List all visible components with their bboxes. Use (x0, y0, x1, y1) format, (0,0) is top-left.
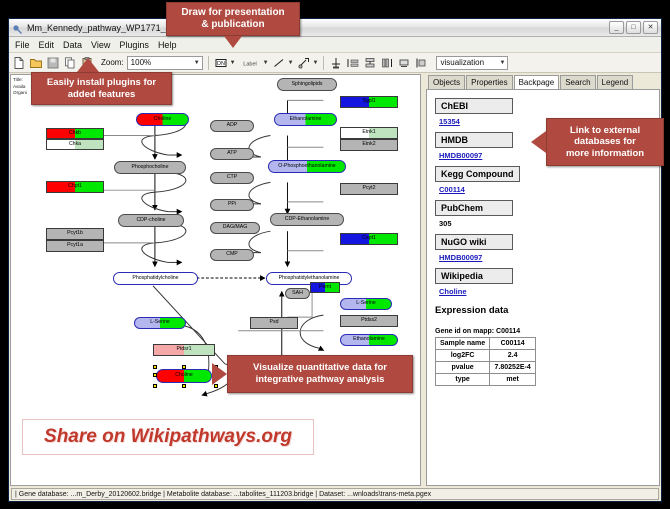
resize-handle[interactable] (182, 384, 186, 388)
expression-key: Sample name (436, 338, 490, 350)
pathway-node-cdp-ethanolamine[interactable]: CDP-Ethanolamine (270, 213, 344, 226)
callout-visualize-arrow-icon (212, 363, 227, 385)
backpage-link-kegg-compound[interactable]: C00114 (439, 185, 651, 194)
resize-handle[interactable] (153, 365, 157, 369)
pathway-node-l-serine-r[interactable]: L-Serine (340, 298, 392, 310)
expression-key: type (436, 374, 490, 386)
size-icon[interactable] (380, 56, 394, 70)
pathway-node-label: Phosphatidylcholine (132, 276, 178, 281)
expression-value: met (490, 374, 536, 386)
expression-table: Sample nameC00114log2FC2.4pvalue7.80252E… (435, 337, 536, 386)
expression-row: pvalue7.80252E-4 (436, 362, 536, 374)
svg-text:DN: DN (217, 61, 225, 67)
pathway-node-cept1[interactable]: Cept1 (340, 233, 398, 245)
backpage-heading-hmdb: HMDB (435, 132, 513, 148)
toolbar-separator (208, 56, 209, 70)
pathway-node-adp[interactable]: ADP (210, 120, 254, 132)
pathway-node-label: Etnk1 (362, 130, 375, 135)
callout-plugins-line1: Easily install plugins for (47, 77, 156, 88)
map-info: Title: Availa Organi (13, 77, 27, 97)
expression-value: 7.80252E-4 (490, 362, 536, 374)
expression-key: log2FC (436, 350, 490, 362)
callout-draw-line1: Draw for presentation (181, 7, 284, 18)
callout-links-line3: more information (566, 148, 644, 159)
menu-item-data[interactable]: Data (63, 40, 82, 50)
pathway-node-label: ATP (227, 151, 237, 156)
expression-value: C00114 (490, 338, 536, 350)
map-info-title: Title: (13, 77, 27, 84)
pathway-node-label: SAH (292, 291, 303, 296)
receptor-dropdown-icon[interactable]: ▼ (313, 60, 319, 66)
pathway-node-label: CDP-choline (136, 218, 165, 223)
toolbar-separator-2 (323, 56, 324, 70)
pathway-node-label: Choline (154, 117, 172, 122)
copy-icon[interactable] (63, 56, 77, 70)
pathway-node-ctp[interactable]: CTP (210, 172, 254, 184)
pathway-node-sgpl1[interactable]: Sgpl1 (340, 96, 398, 108)
label-dropdown-icon[interactable]: ▼ (263, 60, 269, 66)
pathway-node-label: Ethanolamine (290, 117, 322, 122)
visualization-value: visualization (440, 58, 484, 67)
callout-visualize-line2: integrative pathway analysis (256, 374, 385, 385)
pathway-node-ophosphoethanolamine[interactable]: O-Phosphoethanolamine (268, 160, 346, 173)
tab-backpage[interactable]: Backpage (514, 75, 560, 90)
pathway-node-label: Phosphocholine (132, 165, 169, 170)
close-button[interactable]: ✕ (643, 21, 658, 34)
tab-legend[interactable]: Legend (597, 75, 634, 89)
receptor-icon[interactable] (297, 56, 311, 70)
label-icon[interactable]: Label (239, 56, 261, 70)
pathway-node-choline-top[interactable]: Choline (136, 113, 189, 126)
zoom-combobox[interactable]: 100% ▼ (127, 56, 203, 70)
pathway-node-label: CDP-Ethanolamine (285, 217, 329, 222)
gene-id-label: Gene id on mapp: C00114 (435, 328, 651, 335)
tab-objects[interactable]: Objects (428, 75, 465, 89)
callout-plugins-line2: added features (68, 89, 136, 100)
menu-item-plugins[interactable]: Plugins (119, 40, 149, 50)
selection-handles[interactable] (153, 365, 217, 387)
pathway-node-ptdss2[interactable]: Ptdss2 (340, 315, 398, 327)
align-icon[interactable] (329, 56, 343, 70)
pathway-node-label: CTP (227, 175, 237, 180)
zoom-label: Zoom: (101, 58, 124, 67)
backpage-heading-pubchem: PubChem (435, 200, 513, 216)
pathway-node-l-serine-l[interactable]: L-Serine (134, 317, 186, 329)
pathway-node-label: Sgpl1 (362, 99, 375, 104)
line-icon[interactable] (272, 56, 286, 70)
pathway-node-label: Pemt (319, 285, 331, 290)
menu-bar: File Edit Data View Plugins Help (9, 37, 661, 53)
pathway-node-label: PPi (228, 202, 236, 207)
pathway-node-phosphatidylcholine[interactable]: Phosphatidylcholine (113, 272, 198, 285)
map-info-organism: Organi (13, 90, 27, 97)
pathway-node-label: Ethanolamine (353, 337, 385, 342)
pathway-node-pcyt2[interactable]: Pcyt2 (340, 183, 398, 195)
pathway-node-label: DAG/MAG (223, 225, 248, 230)
pathway-node-dagmag[interactable]: DAG/MAG (210, 222, 260, 234)
backpage-heading-kegg-compound: Kegg Compound (435, 166, 520, 182)
pathway-node-sah[interactable]: SAH (285, 288, 310, 299)
pathway-node-label: O-Phosphoethanolamine (278, 164, 335, 169)
share-banner: Share on Wikipathways.org (22, 419, 314, 455)
pathway-node-pcyt1b[interactable]: Pcyt1b (46, 228, 104, 240)
expression-data-title: Expression data (435, 305, 651, 316)
title-bar: Mm_Kennedy_pathway_WP1771_45176.gpml _ □… (9, 19, 661, 37)
distribute-icon[interactable] (346, 56, 360, 70)
pathway-node-sphingolipids[interactable]: Sphingolipids (277, 78, 337, 91)
callout-links: Link to external databases for more info… (546, 118, 664, 166)
backpage-link-nugo-wiki[interactable]: HMDB00097 (439, 253, 651, 262)
pathway-node-ethanolamine-top[interactable]: Ethanolamine (274, 113, 337, 126)
status-bar: | Gene database: ...m_Derby_20120602.bri… (9, 487, 661, 501)
status-text: | Gene database: ...m_Derby_20120602.bri… (11, 488, 659, 500)
chevron-down-icon: ▼ (190, 60, 200, 66)
pathway-node-psd[interactable]: Psd (250, 317, 298, 329)
backpage-heading-nugo-wiki: NuGO wiki (435, 234, 513, 250)
expression-row: Sample nameC00114 (436, 338, 536, 350)
visualization-combobox[interactable]: visualization ▼ (436, 56, 508, 70)
callout-draw-line2: & publication (201, 19, 264, 30)
pathway-node-ethanolamine-bottom[interactable]: Ethanolamine (340, 334, 398, 346)
pathway-node-ppi[interactable]: PPi (210, 199, 254, 211)
line-dropdown-icon[interactable]: ▼ (288, 60, 294, 66)
pathway-node-pemt[interactable]: Pemt (310, 282, 340, 293)
resize-handle[interactable] (153, 373, 157, 377)
callout-links-arrow-icon (531, 131, 546, 153)
pathway-node-pcyt1a[interactable]: Pcyt1a (46, 240, 104, 252)
callout-plugins: Easily install plugins for added feature… (31, 72, 172, 105)
order-icon[interactable] (414, 56, 428, 70)
pathway-node-chpt1[interactable]: Chpt1 (46, 181, 104, 193)
resize-handle[interactable] (182, 365, 186, 369)
pathway-node-label: L-Serine (150, 320, 170, 325)
callout-links-line2: databases for (574, 136, 636, 147)
pathway-node-label: CMP (226, 252, 238, 257)
pathway-node-label: Chkb (69, 131, 81, 136)
window-controls: _ □ ✕ (609, 21, 658, 34)
open-folder-icon[interactable] (29, 56, 43, 70)
pathway-node-etnk2[interactable]: Etnk2 (340, 139, 398, 151)
pathway-node-label: Chpt1 (68, 184, 82, 189)
save-icon[interactable] (46, 56, 60, 70)
app-icon (12, 22, 23, 33)
pathway-node-phosphocholine[interactable]: Phosphocholine (114, 161, 186, 174)
pathway-node-ptdsr1[interactable]: Ptdsr1 (153, 344, 215, 356)
callout-draw: Draw for presentation & publication (166, 2, 300, 36)
toolbar: Zoom: 100% ▼ DN ▼ Label ▼ ▼ ▼ (9, 53, 661, 73)
tab-search[interactable]: Search (560, 75, 595, 89)
chevron-down-icon: ▼ (496, 60, 506, 66)
backpage-heading-wikipedia: Wikipedia (435, 268, 513, 284)
tab-properties[interactable]: Properties (466, 75, 512, 89)
resize-handle[interactable] (153, 384, 157, 388)
pathway-node-label: Ptdsr1 (177, 347, 192, 352)
menu-item-file[interactable]: File (15, 40, 30, 50)
backpage-link-wikipedia[interactable]: Choline (439, 287, 651, 296)
callout-draw-arrow-icon (224, 36, 242, 48)
pathway-node-chka[interactable]: Chka (46, 139, 104, 150)
pathway-node-cdp-choline[interactable]: CDP-choline (118, 214, 184, 227)
backpage-heading-chebi: ChEBI (435, 98, 513, 114)
group-icon[interactable] (397, 56, 411, 70)
callout-visualize-line1: Visualize quantitative data for (253, 362, 387, 373)
datanode-icon[interactable]: DN (214, 56, 228, 70)
maximize-button[interactable]: □ (626, 21, 641, 34)
svg-text:Label: Label (243, 61, 256, 67)
pathway-node-chkb[interactable]: Chkb (46, 128, 104, 139)
stack-icon[interactable] (363, 56, 377, 70)
callout-plugins-arrow-icon (77, 58, 99, 72)
pathway-node-label: Cept1 (362, 236, 376, 241)
pathway-node-label: Pcyt2 (363, 186, 376, 191)
pathway-node-etnk1[interactable]: Etnk1 (340, 127, 398, 139)
backpage-value-pubchem: 305 (439, 219, 651, 228)
callout-visualize: Visualize quantitative data for integrat… (227, 355, 413, 393)
pathway-node-label: Psd (270, 320, 279, 325)
pathway-node-atp[interactable]: ATP (210, 148, 254, 160)
pathway-node-label: Pcyt1a (67, 243, 83, 248)
menu-item-edit[interactable]: Edit (39, 40, 55, 50)
side-panel-tabs: ObjectsPropertiesBackpageSearchLegend (422, 74, 660, 89)
pathway-node-label: Phosphatidylethanolamine (279, 276, 340, 281)
new-file-icon[interactable] (12, 56, 26, 70)
menu-item-help[interactable]: Help (158, 40, 177, 50)
zoom-value: 100% (131, 58, 151, 67)
expression-row: log2FC2.4 (436, 350, 536, 362)
datanode-dropdown-icon[interactable]: ▼ (230, 60, 236, 66)
callout-links-line1: Link to external (570, 125, 640, 136)
expression-value: 2.4 (490, 350, 536, 362)
menu-item-view[interactable]: View (91, 40, 110, 50)
pathway-node-label: ADP (227, 123, 238, 128)
expression-row: typemet (436, 374, 536, 386)
pathway-node-label: Chka (69, 142, 81, 147)
expression-key: pvalue (436, 362, 490, 374)
pathway-node-cmp[interactable]: CMP (210, 249, 254, 261)
pathway-node-label: Sphingolipids (292, 82, 323, 87)
pathway-node-label: Ptdss2 (361, 318, 377, 323)
map-info-availability: Availa (13, 84, 27, 91)
pathway-node-label: Etnk2 (362, 142, 375, 147)
pathway-node-label: L-Serine (356, 301, 376, 306)
pathway-node-label: Pcyt1b (67, 231, 83, 236)
minimize-button[interactable]: _ (609, 21, 624, 34)
